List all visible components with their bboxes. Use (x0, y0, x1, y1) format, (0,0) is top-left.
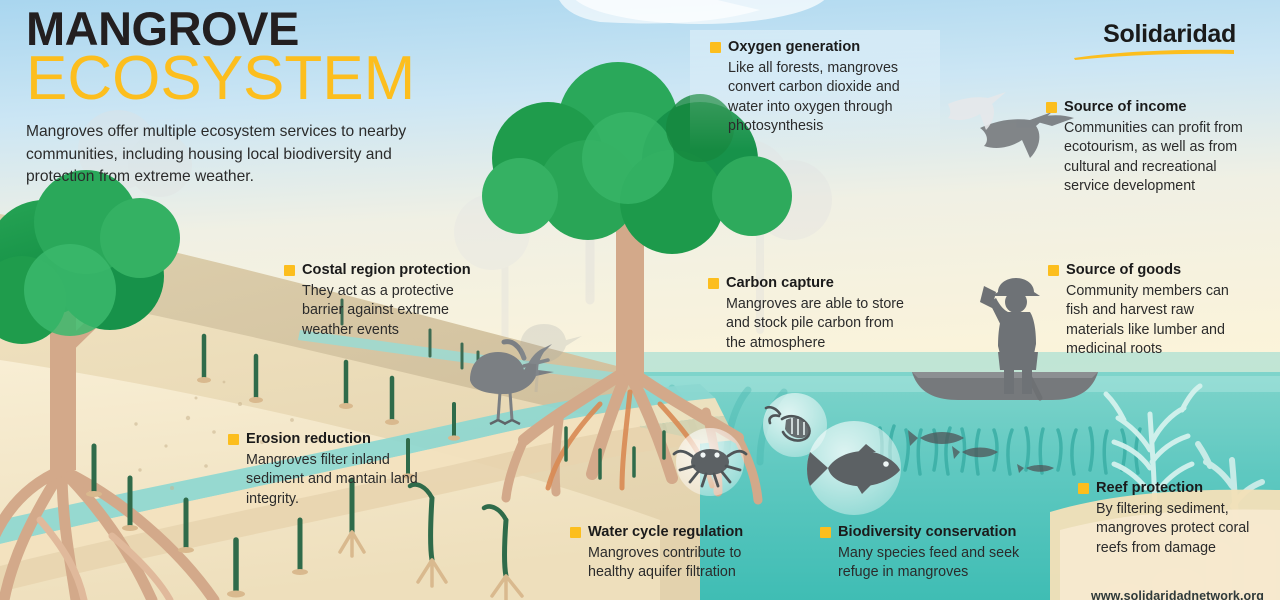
callout-body: Communities can profit from ecotourism, … (1064, 119, 1251, 197)
callout-water-cycle-regulation: Water cycle regulation Mangroves contrib… (570, 524, 775, 583)
callout-title: Oxygen generation (710, 39, 920, 57)
callout-body: Community members can fish and harvest r… (1066, 282, 1248, 360)
footer-website-url[interactable]: www.solidaridadnetwork.org (1091, 589, 1264, 600)
bullet-square-icon (1046, 102, 1057, 113)
callout-carbon-capture: Carbon capture Mangroves are able to sto… (708, 275, 913, 353)
callout-title: Reef protection (1078, 480, 1258, 498)
callout-title: Erosion reduction (228, 431, 443, 449)
callout-reef-protection: Reef protection By filtering sediment, m… (1078, 480, 1258, 558)
callout-title: Source of goods (1048, 262, 1248, 280)
callout-oxygen-generation: Oxygen generation Like all forests, mang… (710, 39, 920, 137)
callout-body: Mangroves contribute to healthy aquifer … (588, 544, 775, 583)
callout-title: Carbon capture (708, 275, 913, 293)
infographic-canvas: MANGROVE ECOSYSTEM Mangroves offer multi… (0, 0, 1280, 600)
bullet-square-icon (820, 527, 831, 538)
bullet-square-icon (228, 434, 239, 445)
callout-costal-region-protection: Costal region protection They act as a p… (284, 262, 499, 340)
brand-logo[interactable]: Solidaridad (1072, 22, 1236, 60)
bullet-square-icon (710, 42, 721, 53)
callout-title: Costal region protection (284, 262, 499, 280)
callout-title: Water cycle regulation (570, 524, 775, 542)
callout-body: Like all forests, mangroves convert carb… (728, 59, 920, 137)
page-title-sub: ECOSYSTEM (26, 50, 526, 109)
callout-title: Source of income (1046, 99, 1251, 117)
callout-title: Biodiversity conservation (820, 524, 1040, 542)
bullet-square-icon (570, 527, 581, 538)
fish-highlight-circle (807, 421, 901, 515)
bullet-square-icon (1078, 483, 1089, 494)
callout-body: Many species feed and seek refuge in man… (838, 544, 1040, 583)
brand-logo-text: Solidaridad (1072, 22, 1236, 47)
callout-source-of-income: Source of income Communities can profit … (1046, 99, 1251, 197)
callout-body: Mangroves filter inland sediment and man… (246, 451, 443, 510)
intro-paragraph: Mangroves offer multiple ecosystem servi… (26, 121, 456, 188)
callout-erosion-reduction: Erosion reduction Mangroves filter inlan… (228, 431, 443, 509)
bullet-square-icon (1048, 265, 1059, 276)
bullet-square-icon (708, 278, 719, 289)
bullet-square-icon (284, 265, 295, 276)
callout-biodiversity-conservation: Biodiversity conservation Many species f… (820, 524, 1040, 583)
brand-swoosh-icon (1072, 48, 1236, 60)
callout-body: They act as a protective barrier against… (302, 282, 499, 341)
page-header: MANGROVE ECOSYSTEM Mangroves offer multi… (26, 6, 526, 188)
callout-body: By filtering sediment, mangroves protect… (1096, 500, 1258, 559)
callout-body: Mangroves are able to store and stock pi… (726, 295, 913, 354)
callout-source-of-goods: Source of goods Community members can fi… (1048, 262, 1248, 360)
